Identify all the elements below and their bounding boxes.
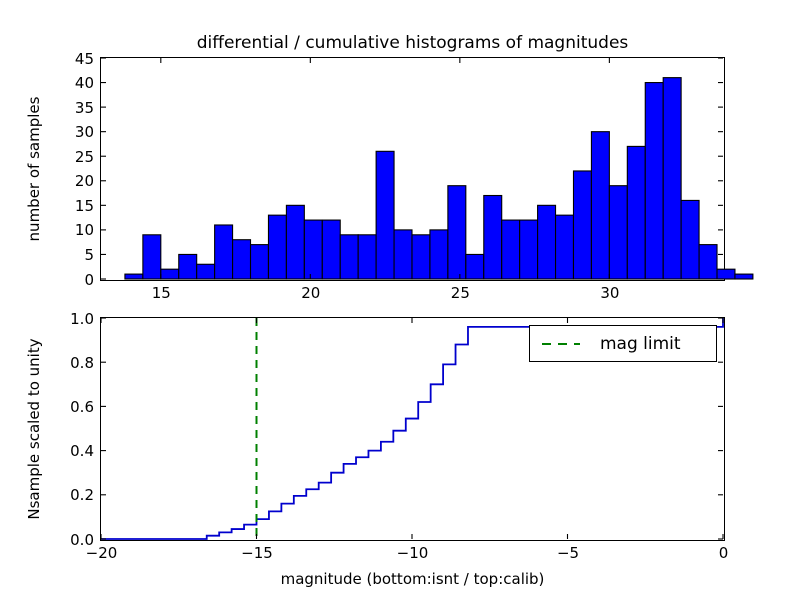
bottom-ylabel: Nsample scaled to unity	[25, 338, 43, 519]
bottom-xtick-label: −15	[241, 544, 273, 562]
bottom-xtick-labels: −20−15−10−50	[0, 0, 800, 600]
maglimit-dash-swatch-icon	[540, 337, 582, 351]
bottom-xtick-label: −20	[86, 544, 118, 562]
legend-box[interactable]: mag limit	[529, 325, 717, 362]
bottom-xtick-label: 0	[719, 544, 729, 562]
bottom-xlabel: magnitude (bottom:isnt / top:calib)	[100, 570, 725, 588]
top-ylabel: number of samples	[25, 97, 43, 242]
bottom-xtick-label: −10	[397, 544, 429, 562]
legend-label-mag-limit: mag limit	[600, 334, 681, 354]
figure-canvas: differential / cumulative histograms of …	[0, 0, 800, 600]
bottom-xtick-label: −5	[557, 544, 579, 562]
